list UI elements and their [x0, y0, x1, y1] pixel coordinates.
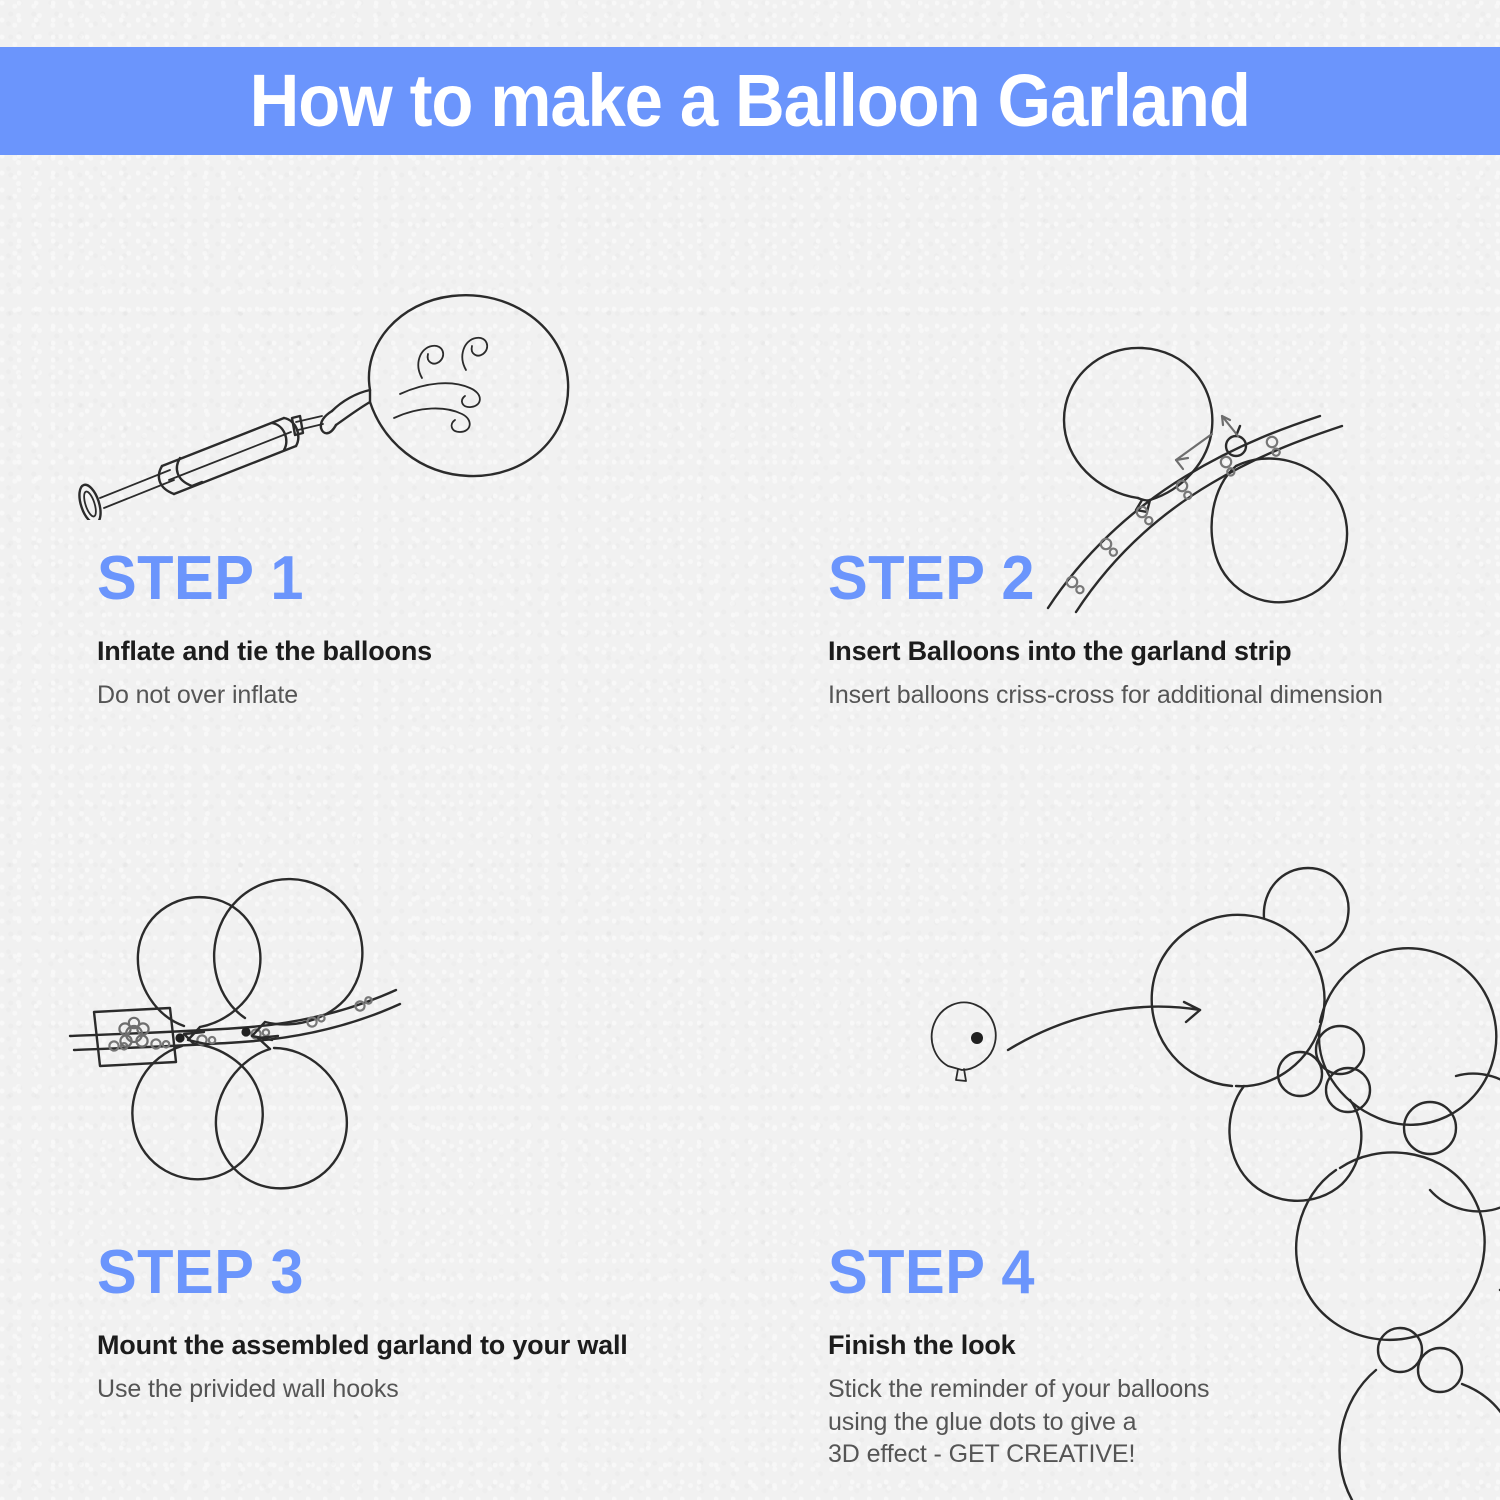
step-4-subtext: Stick the reminder of your balloons usin…: [828, 1373, 1448, 1471]
step-3-label: STEP 3: [97, 1242, 692, 1304]
title-banner: How to make a Balloon Garland: [0, 47, 1500, 155]
hand-pump-inflating-balloon-drawing: [70, 270, 590, 520]
step-1-heading: Inflate and tie the balloons: [97, 636, 717, 667]
step-4-subtext-line-1: Stick the reminder of your balloons: [828, 1373, 1448, 1406]
step-block-2: STEP 2 Insert Balloons into the garland …: [828, 548, 1448, 712]
step-block-3: STEP 3 Mount the assembled garland to yo…: [97, 1242, 717, 1406]
illustration-step-1: [70, 270, 590, 520]
step-2-subtext: Insert balloons criss-cross for addition…: [828, 679, 1448, 712]
step-4-heading: Finish the look: [828, 1330, 1448, 1361]
garland-strip-holes-step3: [109, 996, 374, 1051]
wall-hook: [94, 1008, 176, 1066]
step-2-heading: Insert Balloons into the garland strip: [828, 636, 1448, 667]
step-3-subtext: Use the privided wall hooks: [97, 1373, 717, 1406]
page-title: How to make a Balloon Garland: [250, 64, 1250, 138]
garland-cluster-with-wall-hook-drawing: [60, 850, 420, 1200]
step-4-subtext-line-3: 3D effect - GET CREATIVE!: [828, 1438, 1448, 1471]
step-1-subtext-line-1: Do not over inflate: [97, 679, 717, 712]
step-2-label: STEP 2: [828, 548, 1423, 610]
infographic-page: How to make a Balloon Garland: [0, 0, 1500, 1500]
step-1-label: STEP 1: [97, 548, 692, 610]
step-3-subtext-line-1: Use the privided wall hooks: [97, 1373, 717, 1406]
step-3-heading: Mount the assembled garland to your wall: [97, 1330, 717, 1361]
step-block-4: STEP 4 Finish the look Stick the reminde…: [828, 1242, 1448, 1471]
step-2-subtext-line-1: Insert balloons criss-cross for addition…: [828, 679, 1448, 712]
step-1-subtext: Do not over inflate: [97, 679, 717, 712]
filler-balloon-cluster-top: [1278, 1026, 1370, 1112]
step-block-1: STEP 1 Inflate and tie the balloons Do n…: [97, 548, 717, 712]
step-4-subtext-line-2: using the glue dots to give a: [828, 1406, 1448, 1439]
illustration-step-3: [60, 850, 420, 1200]
step-4-label: STEP 4: [828, 1242, 1423, 1304]
small-balloon-with-glue-dot: [932, 1002, 996, 1081]
